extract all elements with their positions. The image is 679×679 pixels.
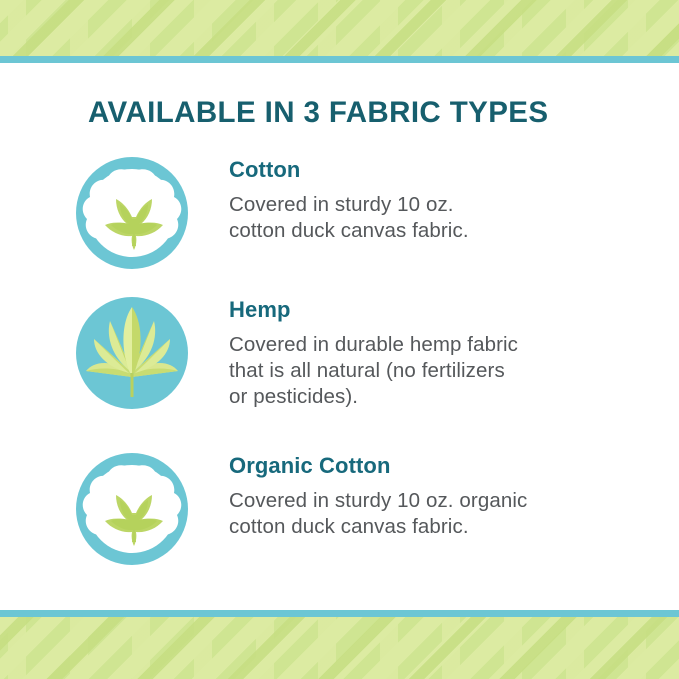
desc-line: cotton duck canvas fabric. (229, 218, 619, 244)
top-pattern-band (0, 0, 679, 56)
page-title: AVAILABLE IN 3 FABRIC TYPES (88, 96, 548, 130)
bottom-accent-rule (0, 610, 679, 617)
cotton-boll-icon (72, 153, 192, 273)
cotton-text: Cotton Covered in sturdy 10 oz. cotton d… (229, 153, 679, 244)
desc-line: Covered in sturdy 10 oz. (229, 192, 619, 218)
desc-line: that is all natural (no fertilizers (229, 358, 619, 384)
item-title-cotton: Cotton (229, 157, 679, 183)
infographic-page: AVAILABLE IN 3 FABRIC TYPES Cotton (0, 0, 679, 679)
desc-line: cotton duck canvas fabric. (229, 514, 619, 540)
item-desc-hemp: Covered in durable hemp fabric that is a… (229, 332, 619, 411)
item-title-organic-cotton: Organic Cotton (229, 453, 679, 479)
item-desc-cotton: Covered in sturdy 10 oz. cotton duck can… (229, 192, 619, 244)
list-item-cotton: Cotton Covered in sturdy 10 oz. cotton d… (0, 153, 679, 293)
hemp-text: Hemp Covered in durable hemp fabric that… (229, 293, 679, 411)
hemp-leaf-icon (72, 293, 192, 413)
list-item-organic-cotton: Organic Cotton Covered in sturdy 10 oz. … (0, 449, 679, 589)
list-item-hemp: Hemp Covered in durable hemp fabric that… (0, 293, 679, 449)
diagonal-dash-pattern (0, 0, 679, 56)
desc-line: or pesticides). (229, 384, 619, 410)
content-area: AVAILABLE IN 3 FABRIC TYPES Cotton (0, 63, 679, 617)
desc-line: Covered in sturdy 10 oz. organic (229, 488, 619, 514)
cotton-boll-icon (72, 449, 192, 569)
top-accent-rule (0, 56, 679, 63)
item-desc-organic-cotton: Covered in sturdy 10 oz. organic cotton … (229, 488, 619, 540)
fabric-list: Cotton Covered in sturdy 10 oz. cotton d… (0, 153, 679, 589)
organic-cotton-text: Organic Cotton Covered in sturdy 10 oz. … (229, 449, 679, 540)
desc-line: Covered in durable hemp fabric (229, 332, 619, 358)
item-title-hemp: Hemp (229, 297, 679, 323)
bottom-pattern-band (0, 617, 679, 679)
diagonal-dash-pattern (0, 617, 679, 679)
